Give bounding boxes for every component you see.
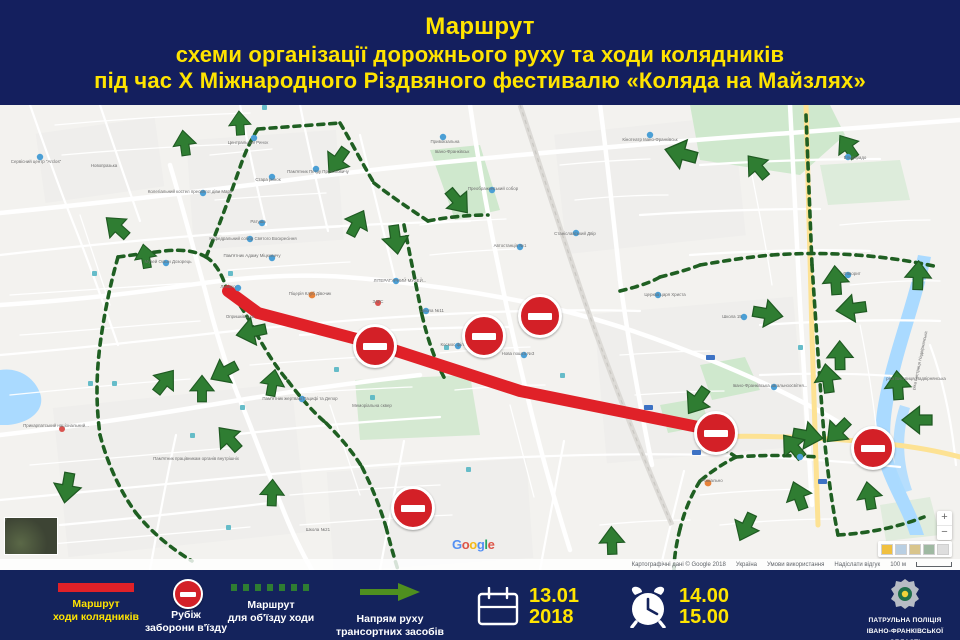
map-place-label: Івано-Франківськ	[435, 149, 470, 154]
no-entry-bar	[401, 505, 425, 512]
attribution-feedback[interactable]: Надіслати відгук	[834, 562, 880, 568]
map-place-label: Центральний Ринок	[228, 140, 269, 145]
legend-item-traffic-line2: трансортних засобів	[290, 626, 490, 639]
event-date: 13.01 2018	[476, 586, 579, 628]
event-date-year: 2018	[529, 607, 579, 628]
map-place-label: Школа №21	[306, 527, 331, 532]
map-place-label: Стара ринок	[255, 177, 280, 182]
alarm-clock-icon	[626, 586, 670, 628]
map-place-label: Пам'ятник Адаму Міцкевичу	[223, 253, 281, 258]
map-place-label: Колегіальний костел пресвятої діви Марії	[148, 189, 233, 194]
event-time-values: 14.00 15.00	[679, 586, 729, 628]
map-attribution-bar: Картографічні дані © Google 2018 Україна…	[0, 559, 960, 570]
map-place-label: Ратуша	[250, 219, 266, 224]
poster-root: Маршрут схеми організації дорожнього рух…	[0, 0, 960, 640]
attribution-scale: 100 м	[890, 562, 906, 568]
map-place-label: Сервісний центр "Arclos"	[11, 159, 62, 164]
map-place-label: Церква царя Христа	[644, 292, 686, 297]
google-logo-letter: e	[488, 537, 495, 552]
map-scale-bar	[916, 562, 952, 567]
map-place-label: ЛІТЕРАТУРНИЙ МУЗЕЙ...	[374, 278, 427, 283]
no-entry-sign	[694, 411, 738, 455]
map-place-label: Пам'ятник жертвам Пацифі та Депор	[262, 396, 338, 401]
legend-item-traffic: Напрям руху трансортних засобів	[290, 582, 490, 639]
map-place-label: ріка Бистриця Надвірнянська	[886, 376, 946, 381]
map-place-label: Кінотеатр Івано-Франківськ	[622, 137, 677, 142]
police-branding: ПАТРУЛЬНА ПОЛІЦІЯ ІВАНО-ФРАНКІВСЬКОЇ ОБЛ…	[855, 578, 955, 640]
map-place-label: Школа 15	[722, 314, 742, 319]
map-layer-thumbnails[interactable]	[878, 541, 952, 557]
page-subtitle-1: схеми організації дорожнього руху та ход…	[176, 43, 785, 66]
zoom-in-button[interactable]: +	[937, 511, 952, 526]
map-place-label: Новопразька	[91, 163, 118, 168]
no-entry-sign	[462, 314, 506, 358]
no-entry-bar	[472, 333, 496, 340]
event-time: 14.00 15.00	[626, 586, 729, 628]
map-place-label: Меморіальна сквер	[352, 403, 392, 408]
no-entry-bar	[861, 445, 885, 452]
map-place-label: Львівко	[220, 284, 236, 289]
page-subtitle-2: під час Х Міжнародного Різдвяного фестив…	[94, 69, 866, 92]
legend-bar: Маршрут ходи колядників Рубіж заборони в…	[0, 570, 960, 640]
green-arrow-swatch	[358, 582, 422, 602]
layer-thumb-icon[interactable]	[937, 544, 949, 555]
police-badge-icon	[890, 578, 920, 610]
map-place-label: ЗАГС	[373, 299, 384, 304]
map-place-label: Піцерія Клуб Дівочик	[289, 291, 331, 296]
attribution-terms[interactable]: Умови використання	[767, 562, 824, 568]
map-place-label: Преображенський собор	[468, 186, 519, 191]
no-entry-sign	[518, 294, 562, 338]
layer-thumb-icon[interactable]	[909, 544, 921, 555]
no-entry-bar	[363, 343, 387, 350]
zoom-out-button[interactable]: −	[937, 526, 952, 540]
map-place-label: Фаворит	[843, 271, 860, 276]
google-logo-letter: o	[469, 537, 477, 552]
map-place-label: Ельдорадо	[844, 155, 867, 160]
calendar-icon	[476, 587, 520, 627]
event-time-start: 14.00	[679, 586, 729, 607]
layer-thumb-icon[interactable]	[895, 544, 907, 555]
map-place-label: Станіславський Двір	[554, 231, 596, 236]
map-viewport[interactable]: .rd { stroke:#ffffff; fill:none; stroke-…	[0, 105, 960, 570]
map-place-label: Опришківська	[226, 314, 255, 319]
attribution-country[interactable]: Україна	[736, 562, 757, 568]
legend-item-traffic-line1: Напрям руху	[290, 613, 490, 626]
no-entry-sign	[851, 426, 895, 470]
poster-header: Маршрут схеми організації дорожнього рух…	[0, 0, 960, 105]
map-zoom-controls[interactable]: + −	[937, 511, 952, 540]
police-line-1: ПАТРУЛЬНА ПОЛІЦІЯ	[855, 617, 955, 626]
no-entry-bar	[704, 430, 728, 437]
map-place-label: Роміально	[701, 478, 723, 483]
no-entry-sign	[353, 324, 397, 368]
attribution-copyright: Картографічні дані © Google 2018	[632, 562, 726, 568]
page-title: Маршрут	[425, 14, 534, 39]
satellite-thumbnail[interactable]	[4, 517, 58, 555]
map-place-label: Івано-Франківська загальноосвітня...	[733, 383, 808, 388]
map-place-label: Школа №11	[420, 308, 444, 313]
map-place-label: Автостанція №1	[494, 243, 527, 248]
no-entry-sign	[391, 486, 435, 530]
no-entry-bar	[528, 313, 552, 320]
layer-thumb-icon[interactable]	[923, 544, 935, 555]
map-place-label: Кафедральний собор Святого Воскресіння	[209, 236, 297, 241]
map-place-label: Пам'ятник Петру Прокоповичу	[287, 169, 349, 174]
map-place-label: Нова пошта №3	[502, 351, 535, 356]
google-logo[interactable]: Google	[452, 537, 494, 552]
event-date-day: 13.01	[529, 586, 579, 607]
event-date-values: 13.01 2018	[529, 586, 579, 628]
police-line-2: ІВАНО-ФРАНКІВСЬКОЇ	[855, 628, 955, 637]
layer-thumb-icon[interactable]	[881, 544, 893, 555]
map-place-label: Музей Ольги Дозорець	[145, 259, 193, 264]
map-place-label: Пам'ятник працівникам органів внутрішніх	[153, 456, 240, 461]
map-place-label: Привокзальна	[431, 139, 460, 144]
map-place-label: Прикарпатський національний...	[23, 423, 89, 428]
google-logo-letter: G	[452, 537, 462, 552]
event-time-end: 15.00	[679, 607, 729, 628]
